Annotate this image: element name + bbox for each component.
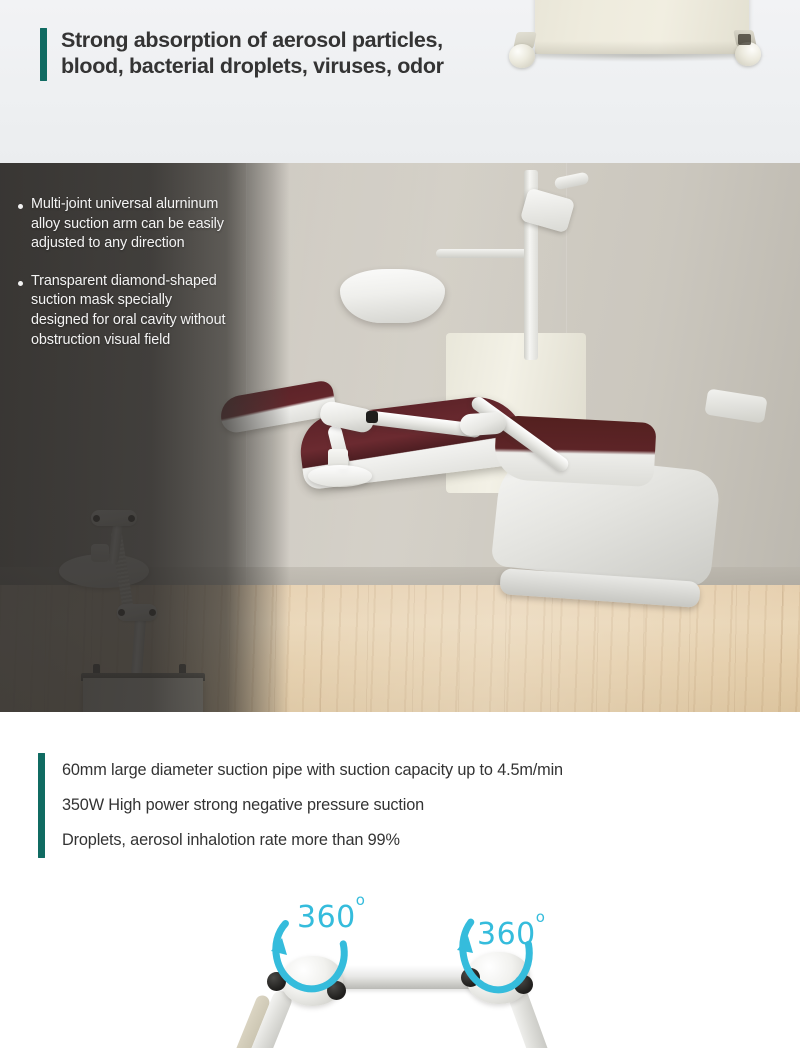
rotation-label-right: 360o bbox=[477, 917, 545, 952]
top-banner-section: Strong absorption of aerosol particles, … bbox=[0, 0, 800, 163]
joint-knob-top bbox=[366, 411, 378, 423]
bullet-dot-icon bbox=[18, 281, 23, 286]
transparent-suction-mask bbox=[308, 465, 372, 487]
rotation-label-left-value: 360 bbox=[297, 900, 356, 935]
list-item: 350W High power strong negative pressure… bbox=[62, 788, 563, 823]
rotation-diagram-section: 360o 360o bbox=[0, 880, 800, 1048]
bullet-text: Transparent diamond-shaped suction mask … bbox=[31, 272, 225, 350]
caster-wheel-left bbox=[509, 32, 539, 66]
page-title: Strong absorption of aerosol particles, … bbox=[61, 28, 444, 79]
spittoon-bowl bbox=[340, 269, 445, 323]
degree-symbol-icon: o bbox=[356, 891, 366, 909]
list-item: 60mm large diameter suction pipe with su… bbox=[62, 753, 563, 788]
cabinet-body bbox=[535, 0, 749, 54]
headline-block: Strong absorption of aerosol particles, … bbox=[40, 28, 444, 81]
caster-bracket-detail bbox=[738, 34, 751, 45]
rotation-label-right-value: 360 bbox=[477, 917, 536, 952]
list-item: Droplets, aerosol inhalotion rate more t… bbox=[62, 823, 563, 858]
spittoon-arm bbox=[436, 249, 528, 258]
instrument-tray bbox=[704, 388, 767, 423]
product-feature-page: Strong absorption of aerosol particles, … bbox=[0, 0, 800, 1048]
feature-accent-bar bbox=[38, 753, 45, 858]
spec-feature-list: 60mm large diameter suction pipe with su… bbox=[38, 753, 563, 858]
operatory-photo-section: Multi-joint universal alurninum alloy su… bbox=[0, 163, 800, 712]
list-item: Transparent diamond-shaped suction mask … bbox=[12, 272, 274, 350]
suction-arm-joint-mid bbox=[459, 411, 506, 436]
feature-bullet-list: Multi-joint universal alurninum alloy su… bbox=[12, 195, 274, 368]
bullet-text: Multi-joint universal alurninum alloy su… bbox=[31, 195, 224, 254]
list-item: Multi-joint universal alurninum alloy su… bbox=[12, 195, 274, 254]
suction-arm-assembly bbox=[310, 403, 600, 563]
headline-accent-bar bbox=[40, 28, 47, 81]
rotation-label-left: 360o bbox=[297, 900, 365, 935]
bullet-dot-icon bbox=[18, 204, 23, 209]
suction-unit-cabinet-image bbox=[535, 0, 749, 57]
degree-symbol-icon: o bbox=[536, 908, 546, 926]
